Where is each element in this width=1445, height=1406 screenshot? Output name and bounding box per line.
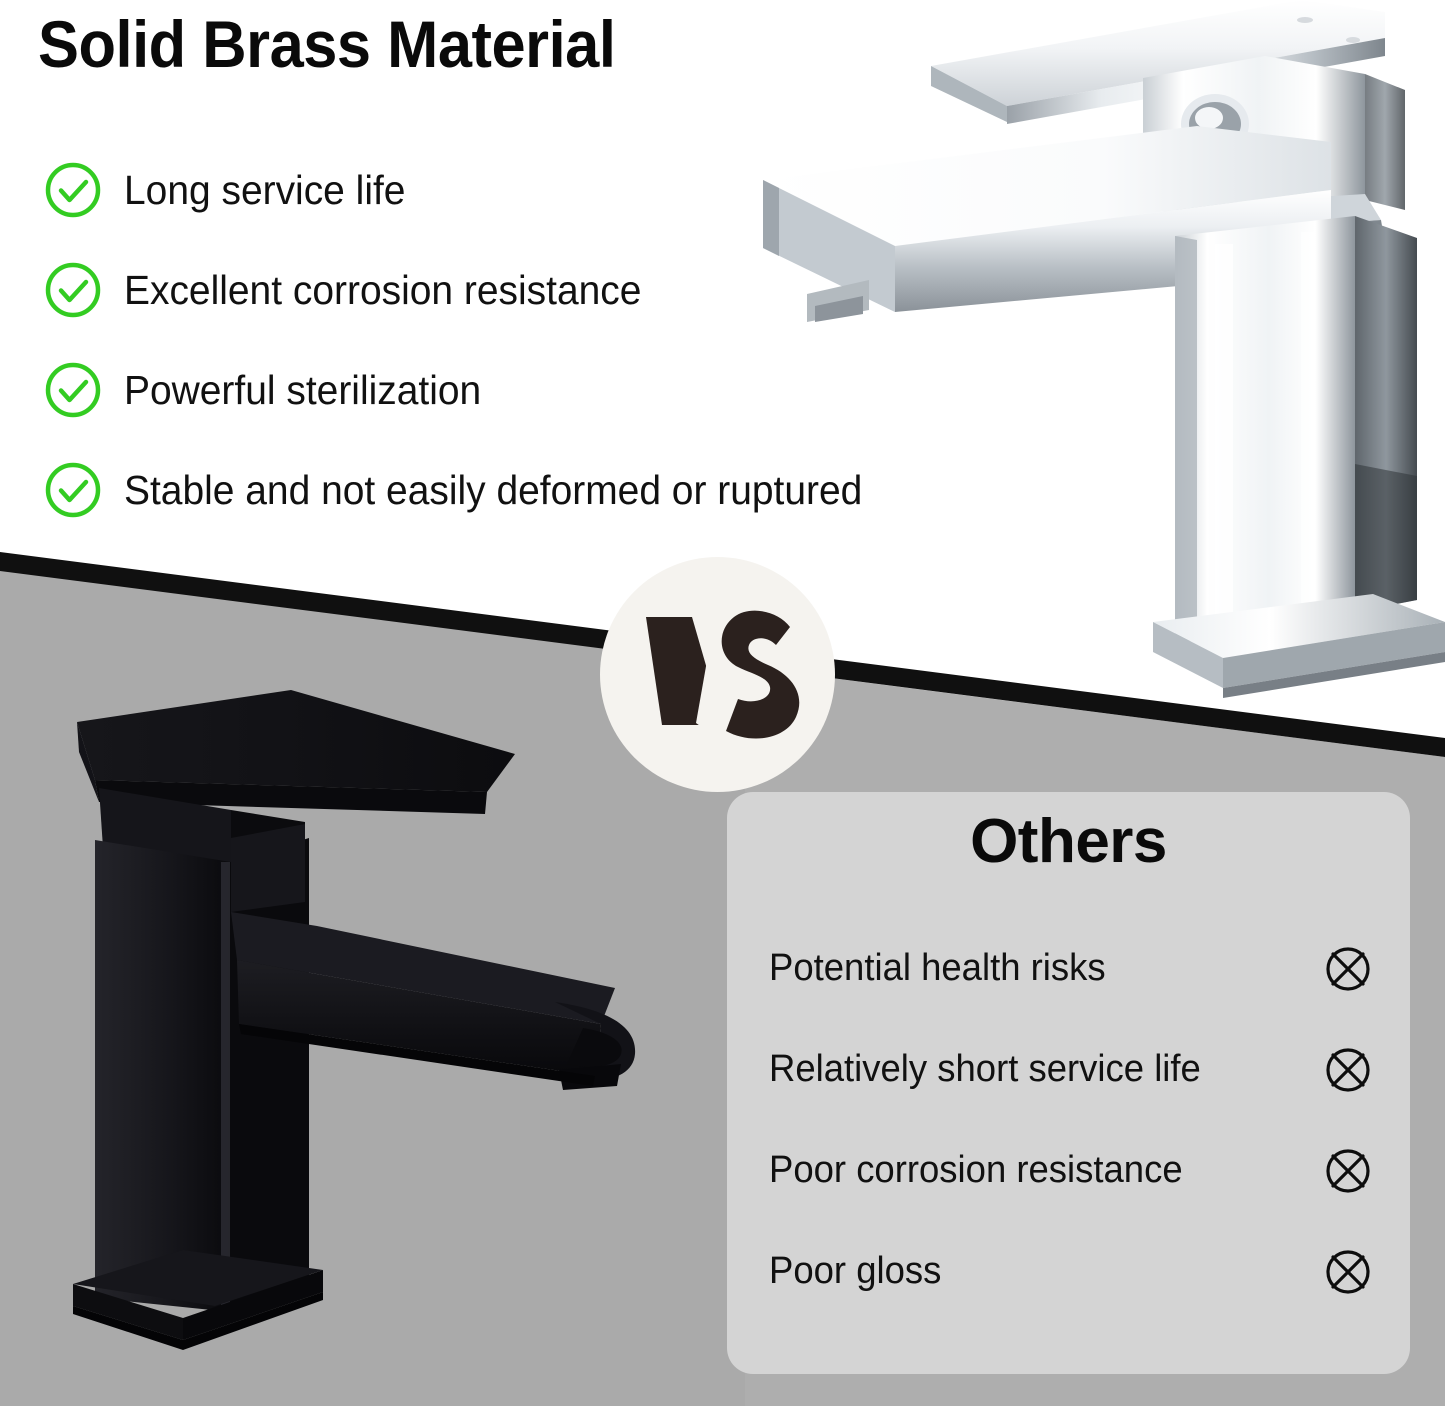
list-item-label: Poor gloss [769, 1250, 941, 1293]
page-title: Solid Brass Material [38, 6, 615, 82]
infographic-canvas: Solid Brass Material Long service life E… [0, 0, 1445, 1406]
list-item-label: Poor corrosion resistance [769, 1149, 1183, 1192]
others-panel: Others Potential health risks Relatively… [727, 792, 1410, 1374]
vs-badge-label [618, 575, 818, 775]
list-item-label: Relatively short service life [769, 1048, 1201, 1091]
x-circle-icon [1322, 1145, 1374, 1197]
check-circle-icon [44, 361, 102, 419]
list-item: Relatively short service life [769, 1019, 1374, 1120]
vs-badge [600, 557, 835, 792]
list-item-label: Powerful sterilization [124, 367, 481, 414]
x-circle-icon [1322, 1246, 1374, 1298]
list-item: Poor gloss [769, 1221, 1374, 1322]
list-item: Poor corrosion resistance [769, 1120, 1374, 1221]
x-circle-icon [1322, 1044, 1374, 1096]
list-item-label: Long service life [124, 167, 405, 214]
x-circle-icon [1322, 943, 1374, 995]
check-circle-icon [44, 461, 102, 519]
list-item-label: Potential health risks [769, 947, 1106, 990]
list-item: Potential health risks [769, 918, 1374, 1019]
list-item-label: Excellent corrosion resistance [124, 267, 641, 314]
check-circle-icon [44, 161, 102, 219]
cons-list: Potential health risks Relatively short … [769, 918, 1374, 1322]
black-faucet-image [55, 672, 695, 1384]
chrome-faucet-image [745, 0, 1445, 734]
check-circle-icon [44, 261, 102, 319]
others-panel-title: Others [727, 806, 1410, 877]
